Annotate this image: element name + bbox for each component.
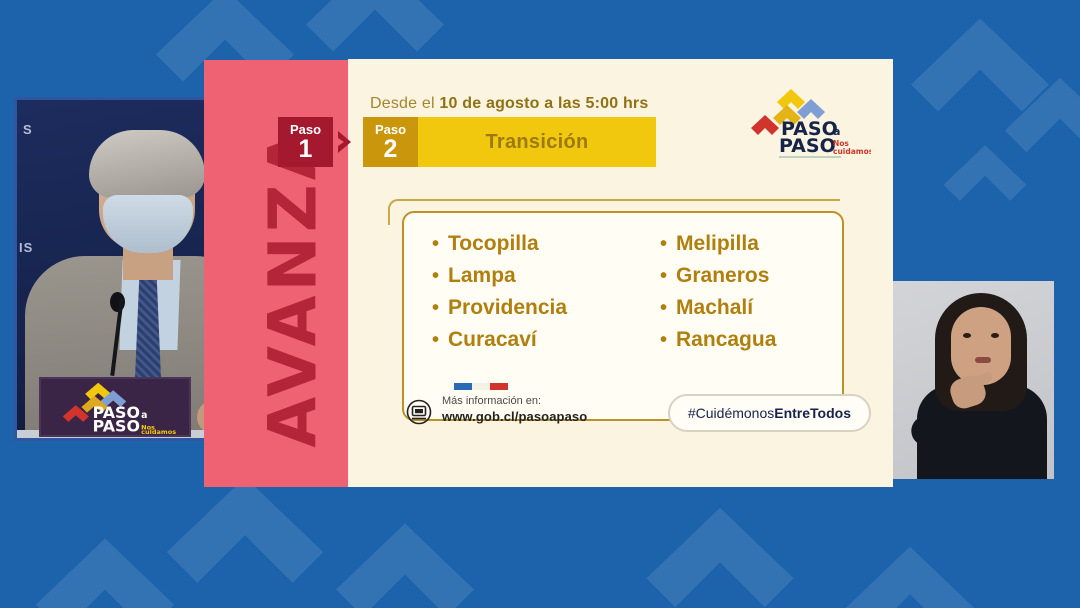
bullet-icon: • (432, 266, 439, 286)
communes-column-left: •Tocopilla •Lampa •Providencia •Curacaví (432, 233, 614, 361)
list-item: •Tocopilla (432, 233, 614, 255)
communes-column-right: •Melipilla •Graneros •Machalí •Rancagua (660, 233, 842, 361)
commune-name: Machalí (676, 297, 753, 319)
svg-text:cuidamos: cuidamos (833, 147, 871, 156)
date-strong: 10 de agosto a las 5:00 hrs (439, 95, 648, 112)
backdrop-text-top: S (23, 122, 33, 137)
step-from-badge[interactable]: Paso 1 (278, 117, 333, 167)
chevron-pattern-icon (840, 540, 980, 608)
effective-date-line: Desde el 10 de agosto a las 5:00 hrs (370, 95, 648, 113)
bullet-icon: • (660, 266, 667, 286)
hashtag-strong: EntreTodos (774, 405, 851, 421)
svg-text:PASO: PASO (779, 135, 836, 157)
date-prefix: Desde el (370, 95, 439, 112)
card-footer: Más información en: www.gob.cl/pasoapaso… (348, 387, 893, 447)
bullet-icon: • (660, 330, 667, 350)
more-info-url[interactable]: www.gob.cl/pasoapaso (442, 409, 587, 425)
chevron-pattern-icon (940, 140, 1030, 206)
bullet-icon: • (432, 330, 439, 350)
svg-text:a: a (141, 410, 147, 421)
commune-name: Rancagua (676, 329, 776, 351)
chevron-pattern-icon (160, 470, 330, 590)
bullet-icon: • (660, 298, 667, 318)
step-to-number: 2 (384, 137, 398, 162)
list-item: •Providencia (432, 297, 614, 319)
bullet-icon: • (432, 298, 439, 318)
bullet-icon: • (432, 234, 439, 254)
step-from-number: 1 (299, 137, 313, 162)
sign-language-interpreter-feed[interactable] (893, 281, 1068, 479)
bullet-icon: • (660, 234, 667, 254)
commune-name: Graneros (676, 265, 769, 287)
list-item: •Lampa (432, 265, 614, 287)
chevron-pattern-icon (300, 0, 450, 60)
interpreter-eye-left (963, 333, 971, 338)
step-to-badge[interactable]: Paso 2 (363, 117, 418, 167)
list-item: •Curacaví (432, 329, 614, 351)
svg-text:PASO: PASO (93, 416, 140, 435)
more-info-label: Más información en: (442, 395, 587, 409)
chile-flag-bar-icon (454, 383, 508, 390)
commune-name: Curacaví (448, 329, 537, 351)
interpreter-right-edge (1054, 281, 1068, 479)
chevron-pattern-icon (640, 500, 800, 608)
list-item: •Machalí (660, 297, 842, 319)
interpreter-eye-right (991, 333, 999, 338)
commune-name: Melipilla (676, 233, 759, 255)
hashtag-badge[interactable]: #CuidémonosEntreTodos (668, 394, 871, 432)
backdrop-text-mid: IS (19, 240, 33, 255)
computer-monitor-icon (406, 399, 432, 425)
podium-sign: PASO a PASO Nos cuidamos (39, 377, 191, 437)
pasoapaso-logo-small-icon: PASO a PASO Nos cuidamos (41, 379, 189, 435)
pasoapaso-logo-icon: PASO a PASO Nos cuidamos (749, 87, 871, 159)
chevron-pattern-icon (30, 530, 180, 608)
chevron-pattern-icon (330, 515, 480, 608)
chevron-right-icon (333, 117, 357, 167)
list-item: •Graneros (660, 265, 842, 287)
svg-text:cuidamos: cuidamos (141, 428, 176, 435)
list-item: •Rancagua (660, 329, 842, 351)
more-info-block[interactable]: Más información en: www.gob.cl/pasoapaso (406, 395, 587, 425)
step-from-label: Paso (290, 123, 321, 136)
communes-columns: •Tocopilla •Lampa •Providencia •Curacaví… (404, 213, 842, 361)
announcement-card: Desde el 10 de agosto a las 5:00 hrs Pas… (348, 59, 893, 487)
step-to-label: Paso (375, 123, 406, 136)
interpreter-mouth (975, 357, 991, 363)
hashtag-prefix: #Cuidémonos (688, 405, 774, 421)
commune-name: Tocopilla (448, 233, 539, 255)
list-item: •Melipilla (660, 233, 842, 255)
commune-name: Lampa (448, 265, 516, 287)
phase-name-bar: Transición (418, 117, 656, 167)
commune-name: Providencia (448, 297, 567, 319)
step-transition-row: Paso 1 Paso 2 Transición (278, 117, 656, 167)
minister-hair (89, 130, 205, 198)
